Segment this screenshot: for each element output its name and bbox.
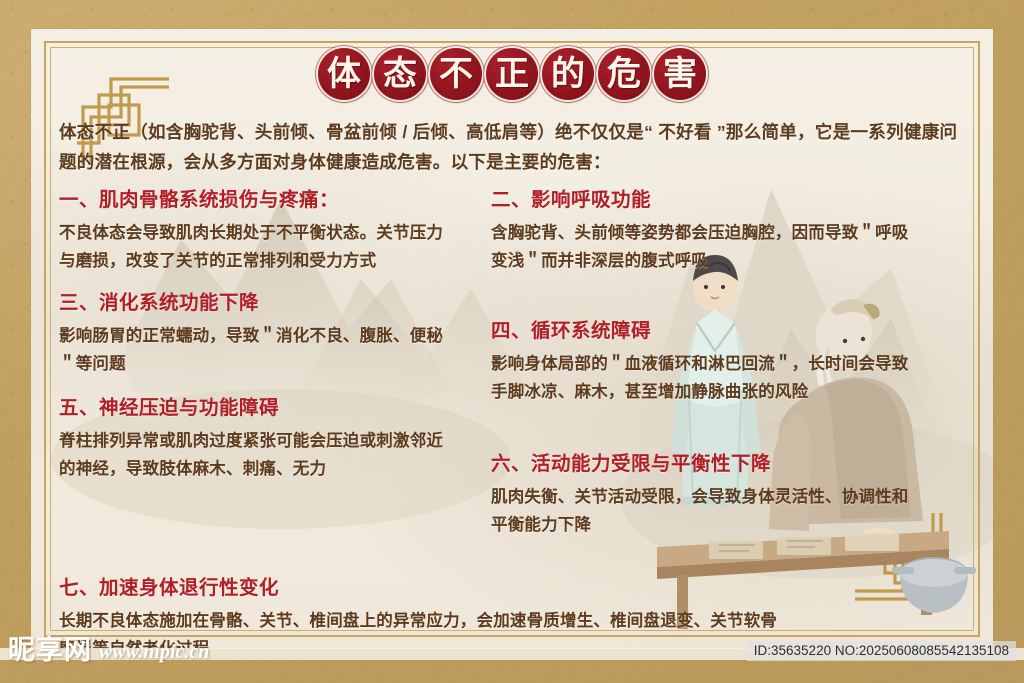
section-3: 三、消化系统功能下降 影响肠胃的正常蠕动，导致＂消化不良、腹胀、便秘＂等问题 xyxy=(59,289,459,378)
section-2-heading: 二、影响呼吸功能 xyxy=(491,186,921,214)
section-6-heading: 六、活动能力受限与平衡性下降 xyxy=(491,450,921,478)
section-2-body: 含胸驼背、头前倾等姿势都会压迫胸腔，因而导致＂呼吸变浅＂而并非深层的腹式呼吸 xyxy=(491,219,921,275)
title-char-4: 正 xyxy=(486,48,538,100)
poster-content: 体 态 不 正 的 危 害 体态不正（如含胸驼背、头前倾、骨盆前倾 / 后倾、高… xyxy=(31,29,993,649)
section-4: 四、循环系统障碍 影响身体局部的＂血液循环和淋巴回流＂，长时间会导致手脚冰凉、麻… xyxy=(491,317,921,406)
site-watermark: 昵享网 www.nipic.cn xyxy=(8,637,209,664)
title-char-7: 害 xyxy=(654,48,706,100)
section-1: 一、肌肉骨骼系统损伤与疼痛： 不良体态会导致肌肉长期处于不平衡状态。关节压力与磨… xyxy=(59,186,459,275)
poster-canvas: 体 态 不 正 的 危 害 体态不正（如含胸驼背、头前倾、骨盆前倾 / 后倾、高… xyxy=(0,0,1024,683)
site-name-cn: 昵享网 xyxy=(8,637,92,664)
section-7-heading: 七、加速身体退行性变化 xyxy=(59,574,779,602)
title-char-3: 不 xyxy=(430,48,482,100)
image-id-label: ID:35635220 NO:20250608085542135108 xyxy=(747,641,1016,661)
section-5-body: 脊柱排列异常或肌肉过度紧张可能会压迫或刺激邻近的神经，导致肢体麻木、刺痛、无力 xyxy=(59,427,459,483)
section-1-heading: 一、肌肉骨骼系统损伤与疼痛： xyxy=(59,186,459,214)
sections-left-column: 一、肌肉骨骼系统损伤与疼痛： 不良体态会导致肌肉长期处于不平衡状态。关节压力与磨… xyxy=(59,186,459,497)
section-3-body: 影响肠胃的正常蠕动，导致＂消化不良、腹胀、便秘＂等问题 xyxy=(59,322,459,378)
poster-page: 体 态 不 正 的 危 害 体态不正（如含胸驼背、头前倾、骨盆前倾 / 后倾、高… xyxy=(31,29,993,649)
section-2: 二、影响呼吸功能 含胸驼背、头前倾等姿势都会压迫胸腔，因而导致＂呼吸变浅＂而并非… xyxy=(491,186,921,275)
section-6-body: 肌肉失衡、关节活动受限，会导致身体灵活性、协调性和平衡能力下降 xyxy=(491,483,921,539)
intro-paragraph: 体态不正（如含胸驼背、头前倾、骨盆前倾 / 后倾、高低肩等）绝不仅仅是“ 不好看… xyxy=(59,117,965,177)
sections-right-column: 二、影响呼吸功能 含胸驼背、头前倾等姿势都会压迫胸腔，因而导致＂呼吸变浅＂而并非… xyxy=(491,186,921,543)
title-char-2: 态 xyxy=(374,48,426,100)
section-4-body: 影响身体局部的＂血液循环和淋巴回流＂，长时间会导致手脚冰凉、麻木，甚至增加静脉曲… xyxy=(491,350,921,406)
section-6: 六、活动能力受限与平衡性下降 肌肉失衡、关节活动受限，会导致身体灵活性、协调性和… xyxy=(491,450,921,539)
title-char-5: 的 xyxy=(542,48,594,100)
section-1-body: 不良体态会导致肌肉长期处于不平衡状态。关节压力与磨损，改变了关节的正常排列和受力… xyxy=(59,219,459,275)
title-char-1: 体 xyxy=(318,48,370,100)
section-3-heading: 三、消化系统功能下降 xyxy=(59,289,459,317)
title-char-6: 危 xyxy=(598,48,650,100)
poster-title: 体 态 不 正 的 危 害 xyxy=(31,48,993,100)
section-4-heading: 四、循环系统障碍 xyxy=(491,317,921,345)
site-url: www.nipic.cn xyxy=(99,641,209,664)
section-5: 五、神经压迫与功能障碍 脊柱排列异常或肌肉过度紧张可能会压迫或刺激邻近的神经，导… xyxy=(59,394,459,483)
section-5-heading: 五、神经压迫与功能障碍 xyxy=(59,394,459,422)
